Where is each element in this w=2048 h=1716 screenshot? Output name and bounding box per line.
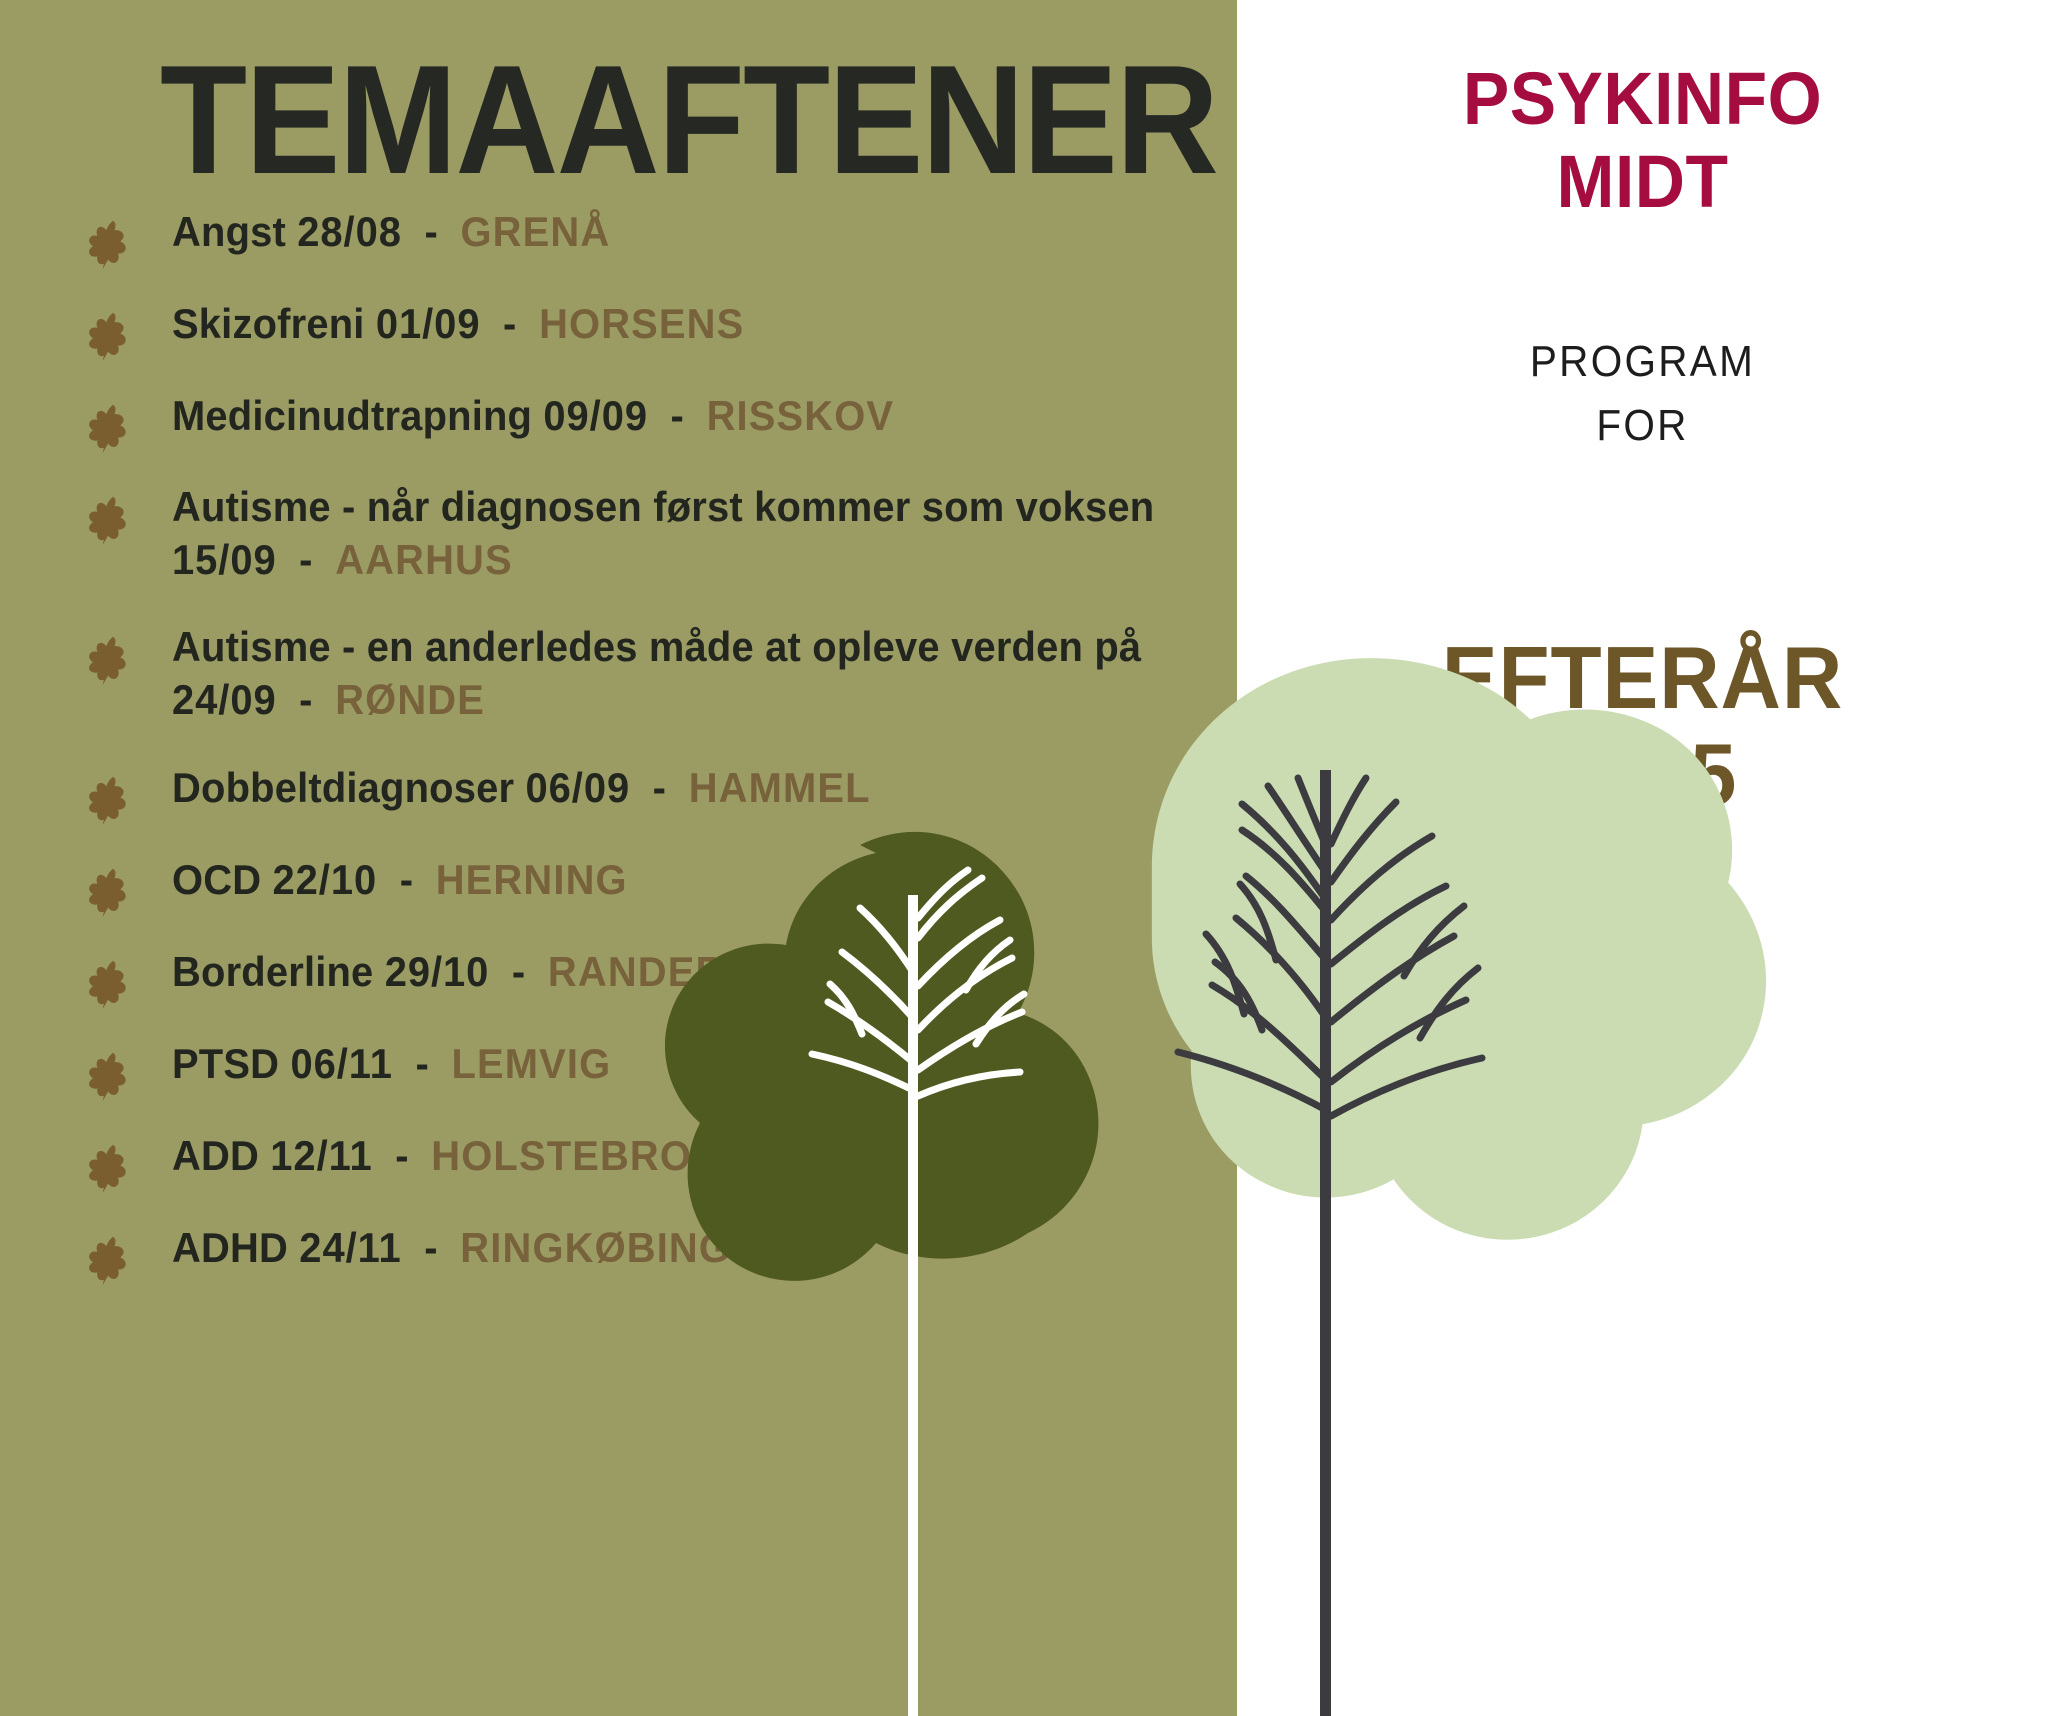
event-row[interactable]: Autisme - når diagnosen først kommer som…	[88, 481, 1208, 587]
event-date: 09/09	[543, 392, 648, 439]
for-word: FOR	[1269, 394, 2015, 458]
event-date: 12/11	[270, 1132, 372, 1179]
event-city: RISSKOV	[707, 392, 895, 439]
event-separator: -	[671, 392, 684, 439]
event-city: GRENÅ	[460, 208, 610, 255]
event-topic: Borderline	[172, 948, 373, 995]
event-city: RØNDE	[335, 676, 485, 723]
event-row[interactable]: Borderline 29/10 - RANDERS	[88, 945, 1208, 1011]
event-row[interactable]: PTSD 06/11 - LEMVIG	[88, 1037, 1208, 1103]
event-text: Angst 28/08 - GRENÅ	[172, 205, 1156, 260]
poster-canvas: TEMAAFTENER Angst 28/08 - GRENÅSkizofren…	[0, 0, 2048, 1716]
year-number: 2025	[1257, 727, 2027, 824]
event-text: ADD 12/11 - HOLSTEBRO	[172, 1129, 1156, 1184]
brand-line-psykinfo: PSYKINFO	[1261, 58, 2023, 141]
pushpin-icon-cell	[88, 1129, 172, 1195]
pushpin-icon-cell	[88, 761, 172, 827]
event-topic: PTSD	[172, 1040, 279, 1087]
event-topic: Dobbeltdiagnoser	[172, 764, 514, 811]
event-date: 15/09	[172, 536, 277, 583]
season-word: EFTERÅR	[1257, 630, 2027, 727]
event-separator: -	[395, 1132, 408, 1179]
event-date: 24/11	[299, 1224, 401, 1271]
event-row[interactable]: Dobbeltdiagnoser 06/09 - HAMMEL	[88, 761, 1208, 827]
pushpin-icon	[88, 495, 134, 547]
season-year-label: EFTERÅR 2025	[1257, 630, 2027, 824]
event-row[interactable]: Autisme - en anderledes måde at opleve v…	[88, 621, 1208, 727]
pushpin-icon	[88, 775, 134, 827]
event-row[interactable]: Medicinudtrapning 09/09 - RISSKOV	[88, 389, 1208, 455]
brand-logo-text: PSYKINFO MIDT	[1261, 58, 2023, 224]
pushpin-icon	[88, 311, 134, 363]
event-topic: ADD	[172, 1132, 259, 1179]
event-separator: -	[415, 1040, 428, 1087]
pushpin-icon-cell	[88, 297, 172, 363]
event-date: 01/09	[376, 300, 481, 347]
event-city: HORSENS	[539, 300, 744, 347]
event-separator: -	[503, 300, 516, 347]
pushpin-icon-cell	[88, 1037, 172, 1103]
brand-line-midt: MIDT	[1261, 141, 2023, 224]
event-list: Angst 28/08 - GRENÅSkizofreni 01/09 - HO…	[88, 205, 1208, 1313]
pushpin-icon-cell	[88, 389, 172, 455]
event-row[interactable]: Angst 28/08 - GRENÅ	[88, 205, 1208, 271]
event-text: OCD 22/10 - HERNING	[172, 853, 1156, 908]
event-topic: Autisme - en anderledes måde at opleve v…	[172, 623, 1141, 670]
event-separator: -	[424, 208, 437, 255]
event-text: Autisme - når diagnosen først kommer som…	[172, 481, 1156, 587]
pushpin-icon-cell	[88, 945, 172, 1011]
pushpin-icon	[88, 867, 134, 919]
event-city: HAMMEL	[689, 764, 871, 811]
event-text: Autisme - en anderledes måde at opleve v…	[172, 621, 1156, 727]
event-city: HOLSTEBRO	[431, 1132, 692, 1179]
event-row[interactable]: OCD 22/10 - HERNING	[88, 853, 1208, 919]
event-city: AARHUS	[335, 536, 513, 583]
pushpin-icon-cell	[88, 205, 172, 271]
event-date: 06/09	[526, 764, 631, 811]
event-separator: -	[424, 1224, 437, 1271]
pushpin-icon	[88, 219, 134, 271]
pushpin-icon-cell	[88, 1221, 172, 1287]
event-topic: Medicinudtrapning	[172, 392, 532, 439]
event-city: RINGKØBING	[460, 1224, 731, 1271]
event-row[interactable]: Skizofreni 01/09 - HORSENS	[88, 297, 1208, 363]
pushpin-icon	[88, 635, 134, 687]
event-date: 06/11	[290, 1040, 392, 1087]
pushpin-icon	[88, 1235, 134, 1287]
event-row[interactable]: ADHD 24/11 - RINGKØBING	[88, 1221, 1208, 1287]
event-topic: Angst	[172, 208, 286, 255]
event-text: PTSD 06/11 - LEMVIG	[172, 1037, 1156, 1092]
event-city: HERNING	[436, 856, 628, 903]
event-separator: -	[299, 536, 312, 583]
event-text: Borderline 29/10 - RANDERS	[172, 945, 1156, 1000]
pushpin-icon	[88, 1051, 134, 1103]
event-separator: -	[512, 948, 525, 995]
event-text: ADHD 24/11 - RINGKØBING	[172, 1221, 1156, 1276]
event-text: Skizofreni 01/09 - HORSENS	[172, 297, 1156, 352]
event-separator: -	[653, 764, 666, 811]
pushpin-icon-cell	[88, 853, 172, 919]
pushpin-icon-cell	[88, 481, 172, 547]
event-city: RANDERS	[548, 948, 753, 995]
pushpin-icon	[88, 959, 134, 1011]
event-topic: ADHD	[172, 1224, 288, 1271]
event-date: 29/10	[385, 948, 490, 995]
brand-panel: PSYKINFO MIDT PROGRAM FOR EFTERÅR 2025	[1237, 0, 2048, 1716]
page-title: TEMAAFTENER	[160, 42, 1217, 197]
event-city: LEMVIG	[451, 1040, 611, 1087]
event-separator: -	[299, 676, 312, 723]
event-text: Dobbeltdiagnoser 06/09 - HAMMEL	[172, 761, 1156, 816]
event-date: 22/10	[273, 856, 378, 903]
event-separator: -	[400, 856, 413, 903]
event-topic: OCD	[172, 856, 261, 903]
event-topic: Skizofreni	[172, 300, 365, 347]
event-row[interactable]: ADD 12/11 - HOLSTEBRO	[88, 1129, 1208, 1195]
program-word: PROGRAM	[1269, 330, 2015, 394]
pushpin-icon	[88, 1143, 134, 1195]
pushpin-icon	[88, 403, 134, 455]
program-for-label: PROGRAM FOR	[1269, 330, 2015, 458]
pushpin-icon-cell	[88, 621, 172, 687]
event-topic: Autisme - når diagnosen først kommer som…	[172, 483, 1154, 530]
event-text: Medicinudtrapning 09/09 - RISSKOV	[172, 389, 1156, 444]
event-date: 24/09	[172, 676, 277, 723]
event-date: 28/08	[297, 208, 402, 255]
